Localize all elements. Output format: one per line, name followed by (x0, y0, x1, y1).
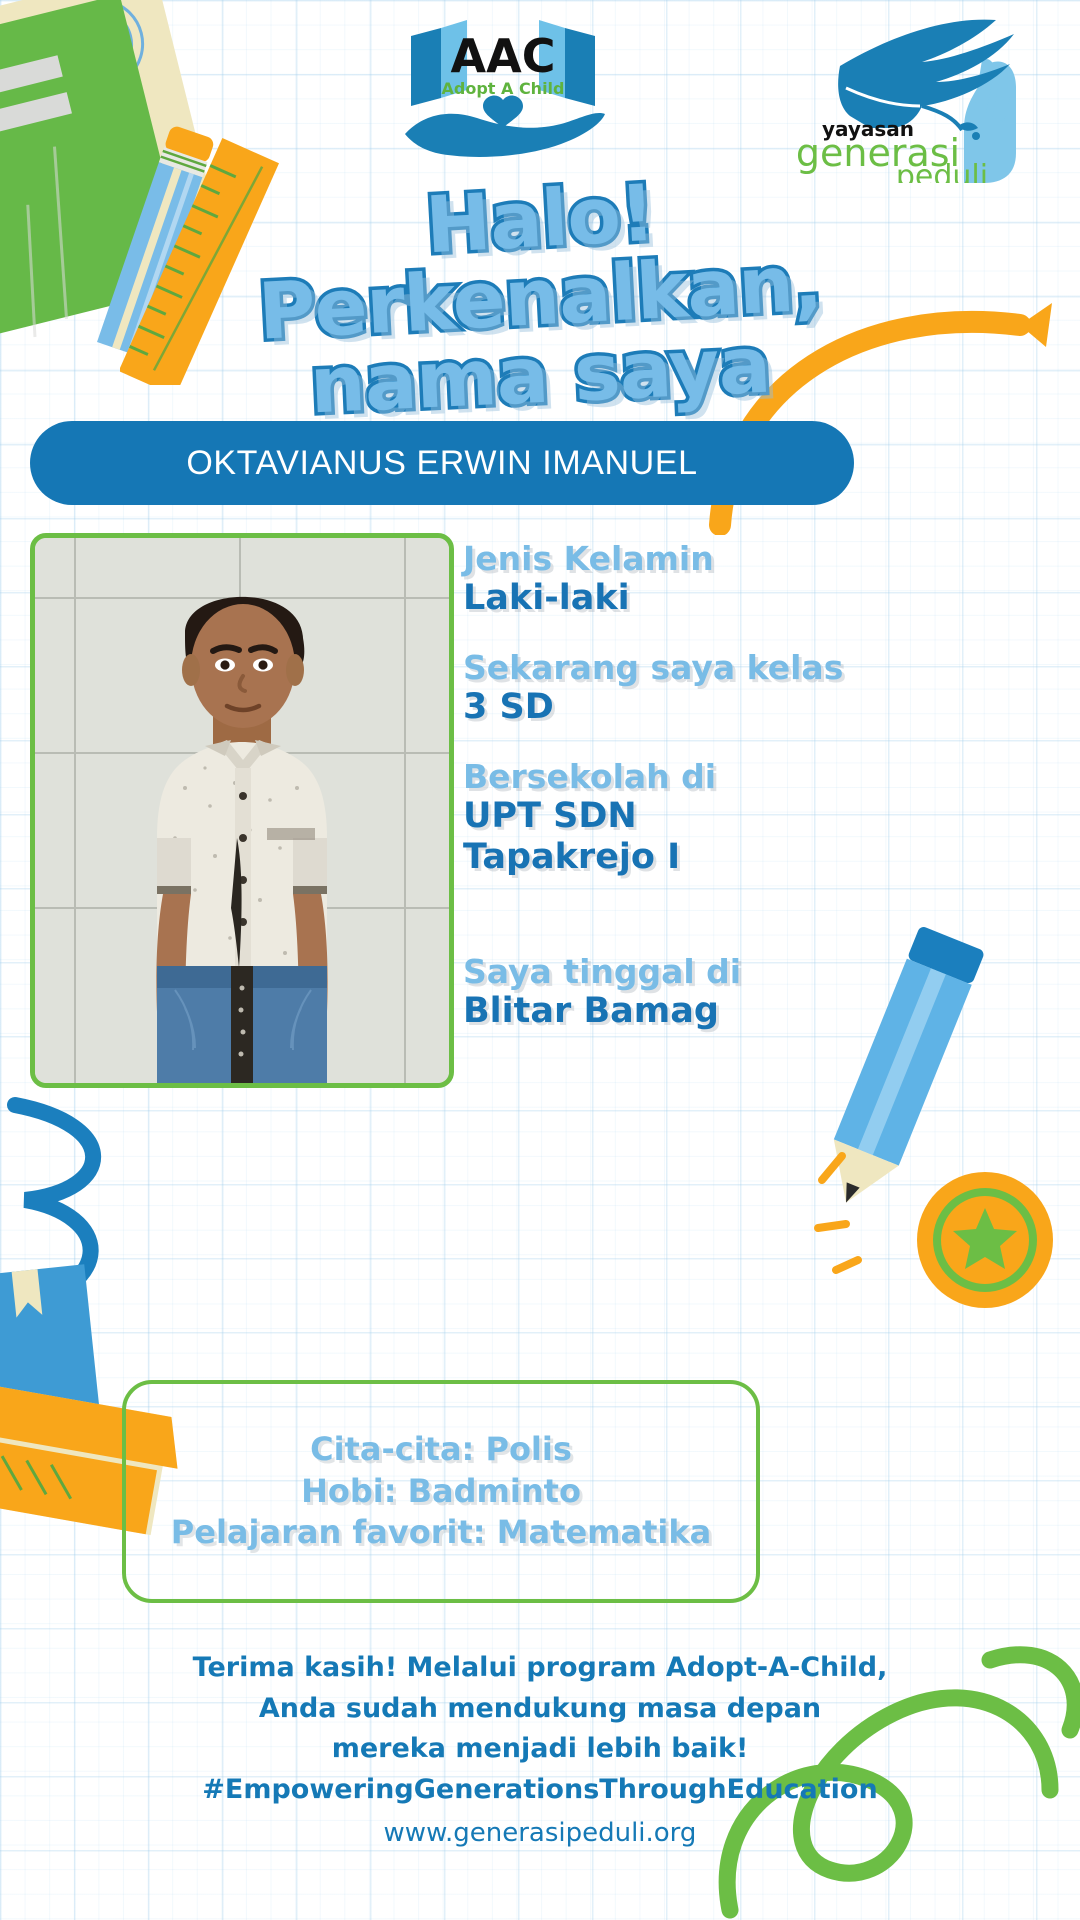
child-photo-frame (30, 533, 454, 1088)
info-label-gender: Jenis Kelamin (463, 540, 883, 578)
child-info-list: Jenis Kelamin Laki-laki Sekarang saya ke… (463, 540, 883, 1062)
info-value-gender: Laki-laki (463, 578, 883, 619)
decoration-medal (800, 1120, 1080, 1380)
footer-line-2: Anda sudah mendukung masa depan (0, 1689, 1080, 1730)
aac-logo: AAC Adopt A Child (383, 14, 623, 166)
info-value-grade: 3 SD (463, 687, 883, 728)
info-label-grade: Sekarang saya kelas (463, 649, 883, 687)
footer-hashtag: #EmpoweringGenerationsThroughEducation (0, 1770, 1080, 1811)
child-name: OKTAVIANUS ERWIN IMANUEL (186, 444, 697, 483)
footer-message: Terima kasih! Melalui program Adopt-A-Ch… (0, 1648, 1080, 1853)
aspiration-dream: Cita-cita: Polis (310, 1429, 572, 1471)
svg-text:A: A (78, 21, 123, 79)
svg-text:+: + (68, 39, 92, 68)
child-name-banner: OKTAVIANUS ERWIN IMANUEL (30, 421, 854, 505)
aspirations-box: Cita-cita: Polis Hobi: Badminto Pelajara… (122, 1380, 760, 1603)
aspiration-favorite-subject: Pelajaran favorit: Matematika (171, 1512, 711, 1554)
info-value-school-line2: Tapakrejo I (463, 837, 883, 878)
footer-line-1: Terima kasih! Melalui program Adopt-A-Ch… (0, 1648, 1080, 1689)
info-label-school: Bersekolah di (463, 758, 883, 796)
info-value-residence: Blitar Bamag (463, 991, 883, 1032)
aac-tagline: Adopt A Child (441, 79, 564, 98)
footer-website[interactable]: www.generasipeduli.org (0, 1814, 1080, 1853)
aac-acronym: AAC (451, 29, 556, 83)
child-photo (35, 538, 449, 1083)
hero-title: Halo! Perkenalkan, nama saya (0, 165, 1080, 400)
info-value-school-line1: UPT SDN (463, 796, 883, 837)
info-spacer (463, 907, 883, 953)
poster-canvas: A + (0, 0, 1080, 1920)
footer-line-3: mereka menjadi lebih baik! (0, 1729, 1080, 1770)
info-label-residence: Saya tinggal di (463, 953, 883, 991)
aspiration-hobby: Hobi: Badminto (301, 1471, 581, 1513)
decoration-blue-squiggle (0, 1095, 140, 1325)
